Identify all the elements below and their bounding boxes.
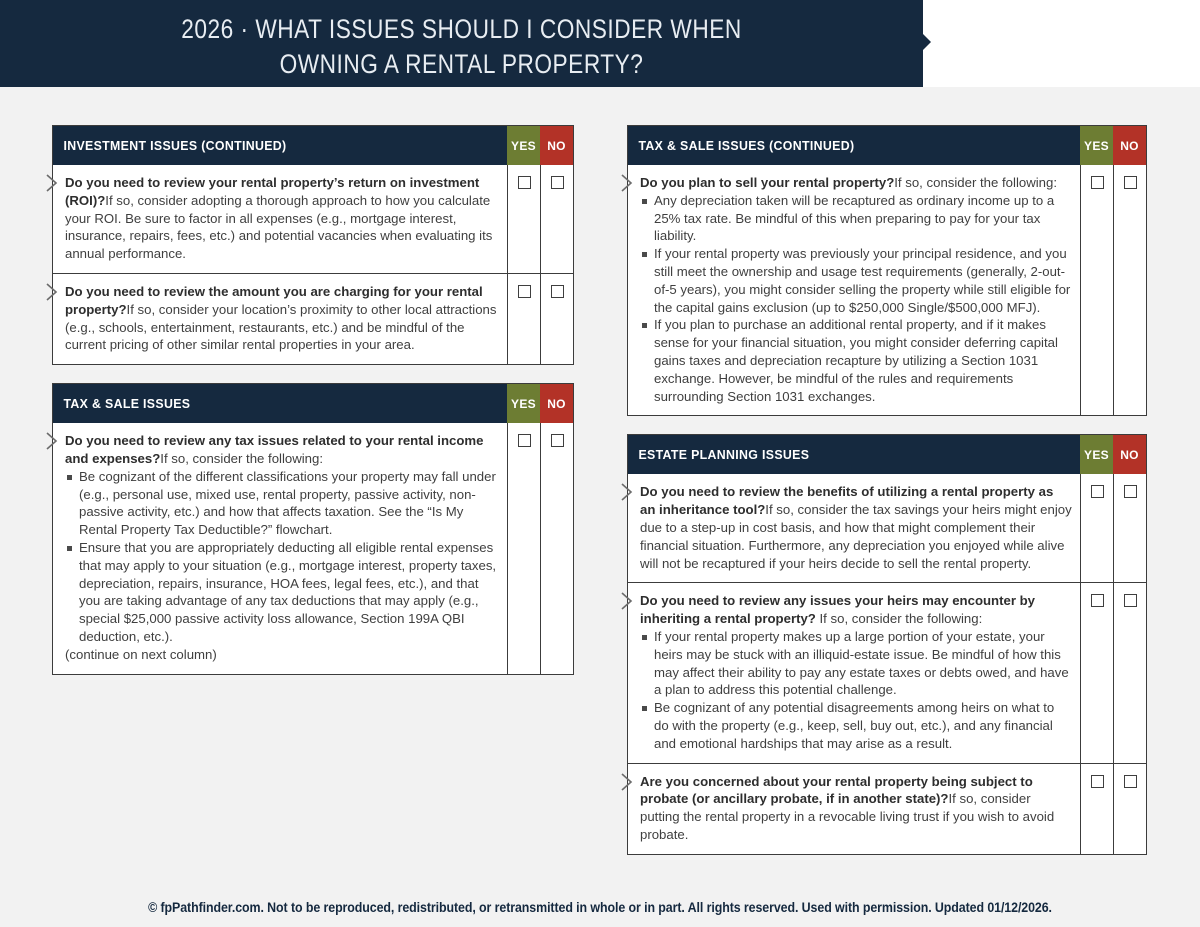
column-header-yes: YES xyxy=(1080,435,1113,474)
question-row: Do you plan to sell your rental property… xyxy=(628,165,1146,415)
question-bold-lead: Are you concerned about your rental prop… xyxy=(640,774,1033,807)
question-text: Do you need to review any issues your he… xyxy=(628,583,1080,762)
right-column: TAX & SALE ISSUES (CONTINUED)YESNODo you… xyxy=(627,125,1147,855)
card-header: INVESTMENT ISSUES (CONTINUED)YESNO xyxy=(53,126,573,165)
card-header-title: TAX & SALE ISSUES (CONTINUED) xyxy=(628,126,1057,165)
page-title-line-2: OWNING A RENTAL PROPERTY? xyxy=(74,47,849,82)
card-header-title: INVESTMENT ISSUES (CONTINUED) xyxy=(53,126,484,165)
checkbox-yes[interactable] xyxy=(1091,485,1104,498)
question-prompt: Do you plan to sell your rental property… xyxy=(640,174,1072,192)
checkbox-cell-no[interactable] xyxy=(540,165,573,273)
checkbox-cell-yes[interactable] xyxy=(507,165,540,273)
question-bold-lead: Do you need to review the amount you are… xyxy=(65,284,483,317)
checkbox-cell-yes[interactable] xyxy=(1080,583,1113,762)
checklist-page: 2026 · WHAT ISSUES SHOULD I CONSIDER WHE… xyxy=(0,0,1200,927)
issues-card: INVESTMENT ISSUES (CONTINUED)YESNODo you… xyxy=(52,125,574,365)
column-header-no: NO xyxy=(1113,435,1146,474)
column-header-yes: YES xyxy=(1080,126,1113,165)
checkbox-yes[interactable] xyxy=(518,285,531,298)
page-title-line-1: 2026 · WHAT ISSUES SHOULD I CONSIDER WHE… xyxy=(74,12,849,47)
column-header-no: NO xyxy=(1113,126,1146,165)
question-text: Are you concerned about your rental prop… xyxy=(628,764,1080,854)
column-header-yes: YES xyxy=(507,126,540,165)
list-item: Be cognizant of any potential disagreeme… xyxy=(640,699,1072,752)
card-header-title: ESTATE PLANNING ISSUES xyxy=(628,435,1057,474)
consideration-list: Be cognizant of the different classifica… xyxy=(65,468,499,646)
footer-copyright: © fpPathfinder.com. Not to be reproduced… xyxy=(48,900,1152,915)
question-bold-lead: Do you plan to sell your rental property… xyxy=(640,175,894,190)
checkbox-cell-no[interactable] xyxy=(540,423,573,673)
header-notch-arrow-icon xyxy=(923,34,931,50)
question-row: Do you need to review the amount you are… xyxy=(53,273,573,364)
question-bold-lead: Do you need to review your rental proper… xyxy=(65,175,479,208)
checkbox-no[interactable] xyxy=(551,285,564,298)
checkbox-cell-yes[interactable] xyxy=(1080,165,1113,415)
question-bold-lead: Do you need to review any tax issues rel… xyxy=(65,433,483,466)
consideration-list: If your rental property makes up a large… xyxy=(640,628,1072,753)
list-item: Any depreciation taken will be recapture… xyxy=(640,192,1072,245)
column-header-no: NO xyxy=(540,384,573,423)
question-row: Do you need to review the benefits of ut… xyxy=(628,474,1146,582)
checkbox-yes[interactable] xyxy=(1091,775,1104,788)
card-body: Do you need to review your rental proper… xyxy=(53,165,573,364)
card-header: ESTATE PLANNING ISSUESYESNO xyxy=(628,435,1146,474)
checkbox-yes[interactable] xyxy=(1091,594,1104,607)
checkbox-cell-no[interactable] xyxy=(1113,165,1146,415)
checkbox-cell-no[interactable] xyxy=(540,274,573,364)
question-text: Do you need to review the amount you are… xyxy=(53,274,507,364)
issues-card: ESTATE PLANNING ISSUESYESNODo you need t… xyxy=(627,434,1147,854)
checkbox-no[interactable] xyxy=(1124,775,1137,788)
column-header-yes: YES xyxy=(507,384,540,423)
question-prompt: Are you concerned about your rental prop… xyxy=(640,773,1072,844)
checkbox-cell-yes[interactable] xyxy=(507,274,540,364)
checkbox-cell-yes[interactable] xyxy=(1080,764,1113,854)
checkbox-cell-no[interactable] xyxy=(1113,583,1146,762)
question-prompt: Do you need to review your rental proper… xyxy=(65,174,499,263)
question-row: Do you need to review your rental proper… xyxy=(53,165,573,273)
question-prompt: Do you need to review the amount you are… xyxy=(65,283,499,354)
list-item: If you plan to purchase an additional re… xyxy=(640,316,1072,405)
card-body: Do you need to review the benefits of ut… xyxy=(628,474,1146,853)
question-prompt: Do you need to review any issues your he… xyxy=(640,592,1072,628)
checkbox-yes[interactable] xyxy=(1091,176,1104,189)
question-prompt: Do you need to review any tax issues rel… xyxy=(65,432,499,468)
checkbox-no[interactable] xyxy=(1124,594,1137,607)
issues-card: TAX & SALE ISSUESYESNODo you need to rev… xyxy=(52,383,574,674)
question-text: Do you need to review any tax issues rel… xyxy=(53,423,507,673)
question-row: Are you concerned about your rental prop… xyxy=(628,763,1146,854)
card-header: TAX & SALE ISSUESYESNO xyxy=(53,384,573,423)
card-header-title: TAX & SALE ISSUES xyxy=(53,384,484,423)
list-item: Be cognizant of the different classifica… xyxy=(65,468,499,539)
checkbox-no[interactable] xyxy=(1124,176,1137,189)
checkbox-cell-no[interactable] xyxy=(1113,764,1146,854)
checkbox-cell-no[interactable] xyxy=(1113,474,1146,582)
question-bold-lead: Do you need to review the benefits of ut… xyxy=(640,484,1053,517)
card-body: Do you need to review any tax issues rel… xyxy=(53,423,573,673)
left-column: INVESTMENT ISSUES (CONTINUED)YESNODo you… xyxy=(52,125,574,675)
consideration-list: Any depreciation taken will be recapture… xyxy=(640,192,1072,406)
card-header: TAX & SALE ISSUES (CONTINUED)YESNO xyxy=(628,126,1146,165)
continuation-note: (continue on next column) xyxy=(65,646,499,664)
checkbox-cell-yes[interactable] xyxy=(507,423,540,673)
checkbox-no[interactable] xyxy=(551,176,564,189)
list-item: Ensure that you are appropriately deduct… xyxy=(65,539,499,646)
header-white-area xyxy=(923,0,1200,87)
issues-card: TAX & SALE ISSUES (CONTINUED)YESNODo you… xyxy=(627,125,1147,416)
checkbox-no[interactable] xyxy=(551,434,564,447)
list-item: If your rental property was previously y… xyxy=(640,245,1072,316)
column-header-no: NO xyxy=(540,126,573,165)
page-title: 2026 · WHAT ISSUES SHOULD I CONSIDER WHE… xyxy=(74,12,849,82)
question-row: Do you need to review any tax issues rel… xyxy=(53,423,573,673)
list-item: If your rental property makes up a large… xyxy=(640,628,1072,699)
question-prompt: Do you need to review the benefits of ut… xyxy=(640,483,1072,572)
checkbox-cell-yes[interactable] xyxy=(1080,474,1113,582)
question-bold-lead: Do you need to review any issues your he… xyxy=(640,593,1035,626)
checkbox-yes[interactable] xyxy=(518,176,531,189)
checkbox-yes[interactable] xyxy=(518,434,531,447)
question-row: Do you need to review any issues your he… xyxy=(628,582,1146,762)
question-text: Do you need to review your rental proper… xyxy=(53,165,507,273)
question-text: Do you need to review the benefits of ut… xyxy=(628,474,1080,582)
question-text: Do you plan to sell your rental property… xyxy=(628,165,1080,415)
card-body: Do you plan to sell your rental property… xyxy=(628,165,1146,415)
checkbox-no[interactable] xyxy=(1124,485,1137,498)
